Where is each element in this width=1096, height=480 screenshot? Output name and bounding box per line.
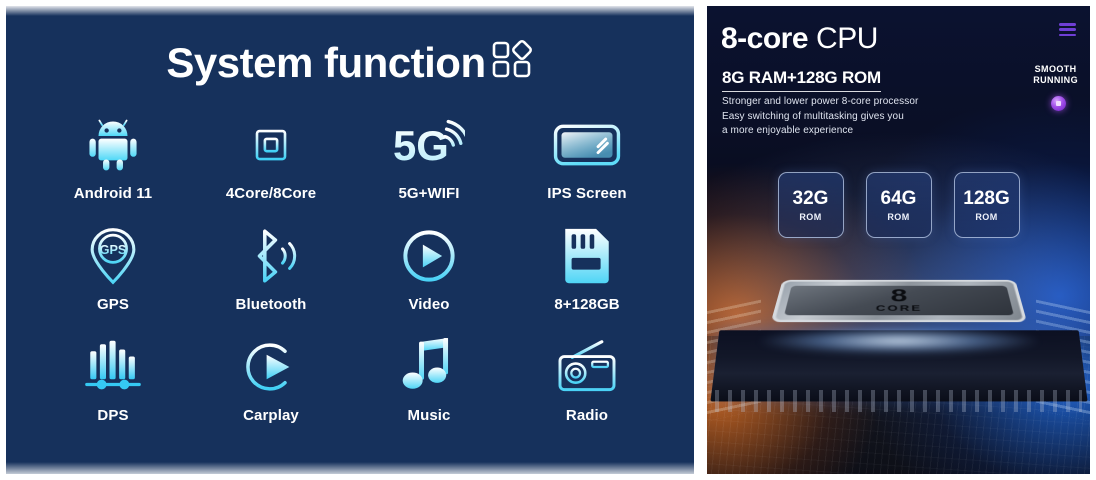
feature-label: Music xyxy=(407,407,450,424)
carplay-icon xyxy=(243,336,299,398)
equalizer-icon xyxy=(84,336,142,398)
hamburger-bar xyxy=(1059,34,1076,37)
rom-size: 64G xyxy=(881,189,917,208)
hamburger-bar xyxy=(1059,23,1076,26)
radio-icon xyxy=(556,336,618,398)
status-badge-line2: RUNNING xyxy=(1033,75,1078,86)
feature-item-radio[interactable]: Radio xyxy=(508,336,666,447)
music-note-icon xyxy=(402,336,456,398)
page-title: System function xyxy=(6,40,694,85)
5g-wifi-icon: 5G xyxy=(393,114,465,176)
feature-item-storage[interactable]: 8+128GB xyxy=(508,225,666,336)
feature-item-cpu[interactable]: 4Core/8Core xyxy=(192,114,350,225)
rom-size: 128G xyxy=(963,189,1009,208)
feature-label: Bluetooth xyxy=(236,296,307,313)
feature-label: IPS Screen xyxy=(547,185,626,202)
feature-label: 5G+WIFI xyxy=(398,185,459,202)
chip-pin-row xyxy=(715,390,1083,412)
cpu-title-bold: 8-core xyxy=(721,22,808,55)
rom-options-row: 32G ROM 64G ROM 128G ROM xyxy=(707,172,1090,238)
system-function-panel: System function xyxy=(6,6,694,474)
cpu-title-thin: CPU xyxy=(816,22,878,55)
feature-label: DPS xyxy=(97,407,128,424)
svg-text:GPS: GPS xyxy=(100,243,127,257)
cpu-chip-face: 8 CORE xyxy=(784,286,1014,315)
feature-label: 8+128GB xyxy=(554,296,619,313)
cpu-chip-body: 8 CORE xyxy=(770,280,1026,322)
android-icon xyxy=(84,114,142,176)
cpu-description: Stronger and lower power 8-core processo… xyxy=(722,95,918,139)
feature-label: 4Core/8Core xyxy=(226,185,316,202)
cpu-chip-icon xyxy=(243,114,299,176)
feature-label: Video xyxy=(408,296,449,313)
rom-kind: ROM xyxy=(975,212,997,222)
rom-kind: ROM xyxy=(887,212,909,222)
gps-pin-icon: GPS xyxy=(88,225,138,287)
feature-label: Android 11 xyxy=(74,185,153,202)
svg-text:5G: 5G xyxy=(393,122,449,169)
screen-icon xyxy=(553,114,621,176)
feature-item-ips-screen[interactable]: IPS Screen xyxy=(508,114,666,225)
chip-glow xyxy=(759,328,1039,354)
bluetooth-icon xyxy=(240,225,302,287)
page-root: System function xyxy=(0,0,1096,480)
status-badge: SMOOTH RUNNING xyxy=(1033,64,1078,87)
rom-kind: ROM xyxy=(799,212,821,222)
page-title-text: System function xyxy=(166,42,485,84)
rom-option-128g[interactable]: 128G ROM xyxy=(954,172,1020,238)
feature-item-android[interactable]: Android 11 xyxy=(34,114,192,225)
feature-label: Radio xyxy=(566,407,608,424)
grid-diamond-icon xyxy=(492,40,534,85)
cpu-chip-3d: 8 CORE xyxy=(770,280,1026,322)
hamburger-menu-icon[interactable] xyxy=(1059,23,1076,36)
rom-size: 32G xyxy=(793,189,829,208)
rom-option-32g[interactable]: 32G ROM xyxy=(778,172,844,238)
feature-item-bluetooth[interactable]: Bluetooth xyxy=(192,225,350,336)
hamburger-bar xyxy=(1059,28,1076,31)
cpu-title: 8-coreCPU xyxy=(721,24,878,54)
feature-item-5g-wifi[interactable]: 5G 5G+WIFI xyxy=(350,114,508,225)
status-badge-line1: SMOOTH xyxy=(1033,64,1078,75)
purple-status-dot-icon xyxy=(1051,96,1066,111)
cpu-core-count: 8 xyxy=(890,289,907,304)
feature-grid: Android 11 xyxy=(34,114,666,447)
rom-option-64g[interactable]: 64G ROM xyxy=(866,172,932,238)
video-play-icon xyxy=(401,225,457,287)
feature-item-dps[interactable]: DPS xyxy=(34,336,192,447)
sd-card-icon xyxy=(561,225,613,287)
feature-label: GPS xyxy=(97,296,129,313)
feature-item-video[interactable]: Video xyxy=(350,225,508,336)
feature-item-carplay[interactable]: Carplay xyxy=(192,336,350,447)
feature-item-gps[interactable]: GPS GPS xyxy=(34,225,192,336)
feature-item-music[interactable]: Music xyxy=(350,336,508,447)
cpu-description-line: a more enjoyable experience xyxy=(722,124,918,139)
feature-label: Carplay xyxy=(243,407,299,424)
purple-status-dot-core xyxy=(1056,101,1061,106)
cpu-subtitle: 8G RAM+128G ROM xyxy=(722,68,881,92)
cpu-core-word: CORE xyxy=(875,304,922,312)
cpu-promo-panel: 8 CORE 8-coreCPU 8G RAM+128G ROM Stronge… xyxy=(707,6,1090,474)
cpu-description-line: Easy switching of multitasking gives you xyxy=(722,110,918,125)
cpu-description-line: Stronger and lower power 8-core processo… xyxy=(722,95,918,110)
